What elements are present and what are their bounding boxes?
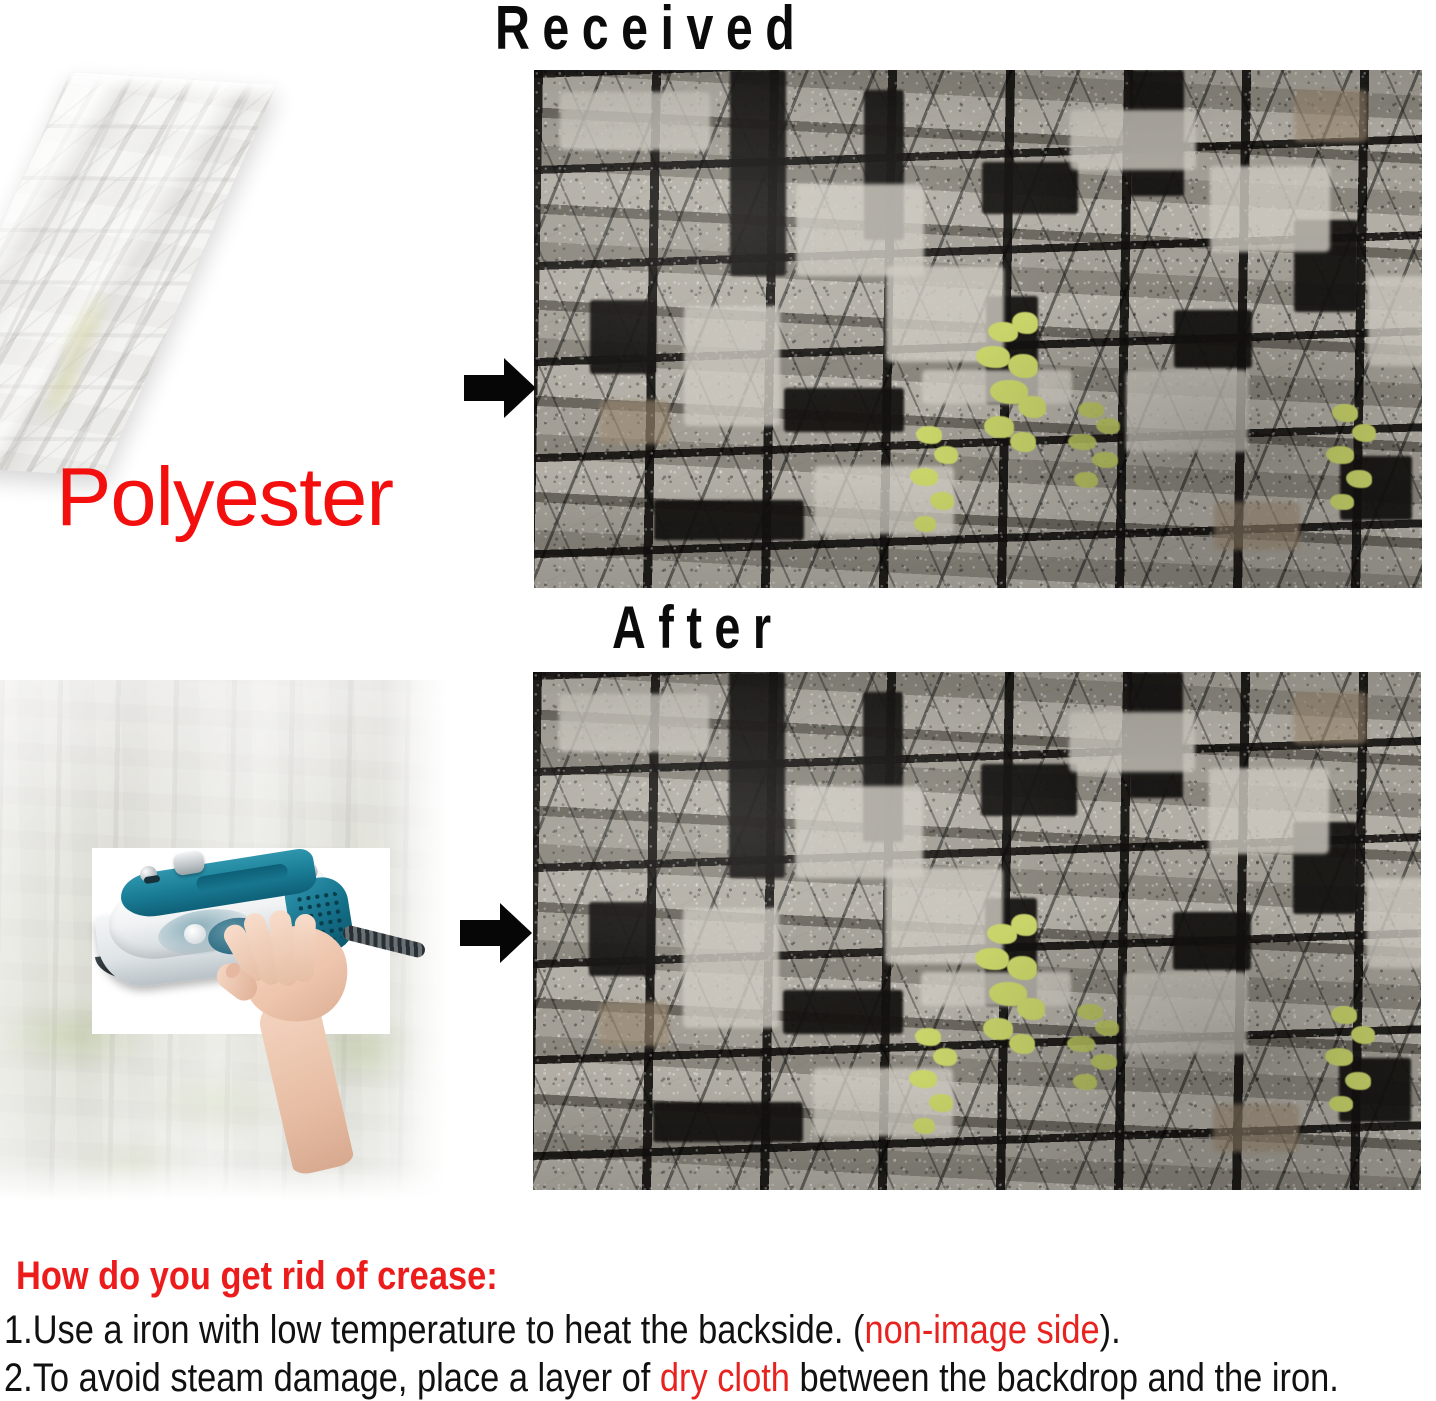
arrow-shaft <box>460 920 504 946</box>
arrow-right-icon <box>464 358 538 418</box>
steam-iron-with-hand <box>92 848 422 1178</box>
care-step-2-prefix: 2.To avoid steam damage, place a layer o… <box>4 1356 660 1400</box>
care-step-2-suffix: between the backdrop and the iron. <box>790 1356 1339 1400</box>
iron-spray-button <box>184 924 206 944</box>
rock-tone-layer <box>534 70 1422 588</box>
care-step-2-highlight: dry cloth <box>660 1356 790 1400</box>
hand-finger <box>293 914 316 983</box>
section-title-received: Received <box>495 0 807 60</box>
care-step-1-highlight: non-image side <box>864 1308 1099 1352</box>
care-step-1-suffix: ). <box>1100 1308 1121 1352</box>
section-title-after: After <box>612 598 784 658</box>
arrow-head <box>500 903 532 963</box>
infographic-canvas: Received Polyester <box>0 0 1436 1401</box>
care-step-1-prefix: 1.Use a iron with low temperature to hea… <box>4 1308 864 1352</box>
care-step-1: 1.Use a iron with low temperature to hea… <box>4 1310 1121 1350</box>
folded-fabric-photo <box>14 72 434 492</box>
care-step-2: 2.To avoid steam damage, place a layer o… <box>4 1358 1339 1398</box>
received-rock-backdrop-photo <box>534 70 1422 588</box>
arrow-right-icon <box>460 903 534 963</box>
arrow-shaft <box>464 375 508 401</box>
polyester-material-label: Polyester <box>56 455 393 538</box>
rock-tone-layer <box>533 672 1421 1190</box>
after-rock-backdrop-photo <box>533 672 1421 1190</box>
fabric-sheet <box>0 72 277 476</box>
care-heading: How do you get rid of crease: <box>16 1256 498 1296</box>
fabric-fold-highlights <box>0 72 277 476</box>
iron-power-cord <box>341 924 426 959</box>
arrow-head <box>504 358 536 418</box>
